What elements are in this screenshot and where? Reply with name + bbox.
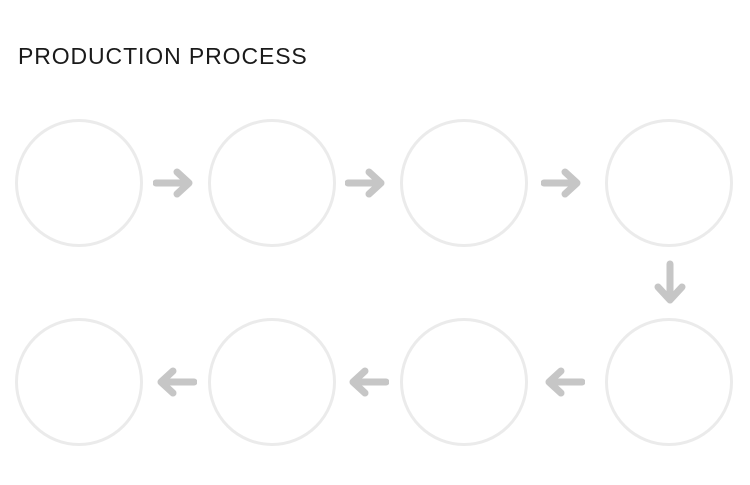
- process-stage-2-calendering-rubber-sheet: [208, 119, 336, 247]
- process-stage-7-finished-rollers-inspection: [208, 318, 336, 446]
- arrow-right-icon-stage2-to-stage3: [345, 162, 389, 204]
- arrow-left-icon-stage6-to-stage7: [345, 361, 389, 403]
- arrow-left-icon-stage5-to-stage6: [541, 361, 585, 403]
- process-stage-5-lathe-turning-roller: [605, 318, 733, 446]
- stage-4-ring: [605, 119, 733, 247]
- stage-2-ring: [208, 119, 336, 247]
- stage-5-ring: [605, 318, 733, 446]
- stage-7-ring: [208, 318, 336, 446]
- arrow-left-icon-stage7-to-stage8: [153, 361, 197, 403]
- process-stage-4-vulcanizing-oven: [605, 119, 733, 247]
- process-stage-6-grinding-polishing-roller: [400, 318, 528, 446]
- arrow-right-icon-stage3-to-stage4: [541, 162, 585, 204]
- stage-8-ring: [15, 318, 143, 446]
- page-title: PRODUCTION PROCESS: [18, 42, 308, 70]
- process-stage-3-extrusion-wrapping-machine: [400, 119, 528, 247]
- stage-3-ring: [400, 119, 528, 247]
- stage-1-ring: [15, 119, 143, 247]
- arrow-right-icon-stage1-to-stage2: [153, 162, 197, 204]
- arrow-down-icon-stage4-to-stage5: [648, 260, 692, 308]
- stage-6-ring: [400, 318, 528, 446]
- process-stage-1-rubber-mixing-workshop: [15, 119, 143, 247]
- process-stage-8-warehouse-packing-storage: [15, 318, 143, 446]
